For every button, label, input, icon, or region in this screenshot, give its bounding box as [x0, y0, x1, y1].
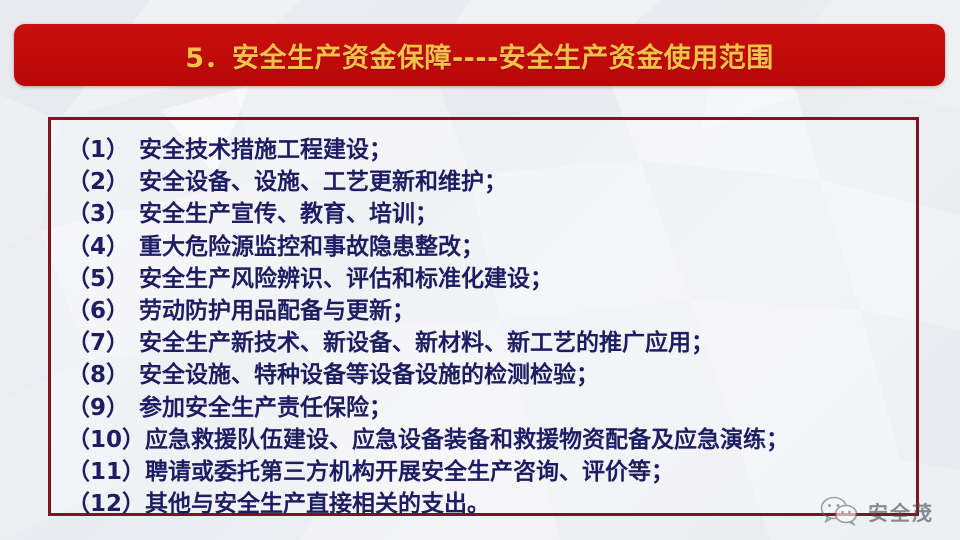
- title-banner: 5．安全生产资金保障----安全生产资金使用范围: [14, 24, 945, 86]
- list-item-text: 其他与安全生产直接相关的支出。: [145, 488, 490, 520]
- list-item-number: （3）: [67, 198, 139, 230]
- list-item: （12） 其他与安全生产直接相关的支出。: [67, 488, 906, 520]
- list-item-text: 劳动防护用品配备与更新；: [139, 295, 415, 327]
- list-item-number: （5）: [67, 263, 139, 295]
- list-item: （4） 重大危险源监控和事故隐患整改；: [67, 231, 906, 263]
- watermark: 安全茂: [820, 496, 934, 526]
- wechat-icon: [820, 496, 860, 526]
- page-title: 5．安全生产资金保障----安全生产资金使用范围: [185, 36, 774, 75]
- list-item-number: （1）: [67, 134, 139, 166]
- list-item-text: 安全生产新技术、新设备、新材料、新工艺的推广应用；: [139, 327, 714, 359]
- list-item-text: 安全设备、设施、工艺更新和维护；: [139, 166, 507, 198]
- list-item: （11） 聘请或委托第三方机构开展安全生产咨询、评价等；: [67, 456, 906, 488]
- list-item-number: （2）: [67, 166, 139, 198]
- list-item-number: （6）: [67, 295, 139, 327]
- list-item-text: 重大危险源监控和事故隐患整改；: [139, 231, 484, 263]
- list-item-number: （11）: [67, 456, 145, 488]
- list-item-number: （10）: [67, 424, 145, 456]
- list-item-number: （8）: [67, 359, 139, 391]
- list-item-text: 安全生产风险辨识、评估和标准化建设；: [139, 263, 553, 295]
- list-item: （8） 安全设施、特种设备等设备设施的检测检验；: [67, 359, 906, 391]
- list-item-number: （4）: [67, 231, 139, 263]
- list-item-number: （9）: [67, 392, 139, 424]
- list-item-text: 安全生产宣传、教育、培训；: [139, 198, 438, 230]
- list-item-text: 参加安全生产责任保险；: [139, 392, 392, 424]
- list-item-text: 聘请或委托第三方机构开展安全生产咨询、评价等；: [145, 456, 674, 488]
- scope-list: （1） 安全技术措施工程建设； （2） 安全设备、设施、工艺更新和维护； （3）…: [67, 134, 906, 520]
- list-item: （9） 参加安全生产责任保险；: [67, 392, 906, 424]
- list-item: （1） 安全技术措施工程建设；: [67, 134, 906, 166]
- list-item-text: 安全设施、特种设备等设备设施的检测检验；: [139, 359, 599, 391]
- slide-canvas: 5．安全生产资金保障----安全生产资金使用范围 （1） 安全技术措施工程建设；…: [0, 0, 960, 540]
- list-item: （7） 安全生产新技术、新设备、新材料、新工艺的推广应用；: [67, 327, 906, 359]
- list-item: （10） 应急救援队伍建设、应急设备装备和救援物资配备及应急演练；: [67, 424, 906, 456]
- list-item-text: 应急救援队伍建设、应急设备装备和救援物资配备及应急演练；: [145, 424, 789, 456]
- list-item: （3） 安全生产宣传、教育、培训；: [67, 198, 906, 230]
- content-box: （1） 安全技术措施工程建设； （2） 安全设备、设施、工艺更新和维护； （3）…: [48, 117, 919, 516]
- list-item: （6） 劳动防护用品配备与更新；: [67, 295, 906, 327]
- list-item: （5） 安全生产风险辨识、评估和标准化建设；: [67, 263, 906, 295]
- list-item-number: （12）: [67, 488, 145, 520]
- list-item: （2） 安全设备、设施、工艺更新和维护；: [67, 166, 906, 198]
- watermark-text: 安全茂: [868, 497, 934, 526]
- list-item-number: （7）: [67, 327, 139, 359]
- list-item-text: 安全技术措施工程建设；: [139, 134, 392, 166]
